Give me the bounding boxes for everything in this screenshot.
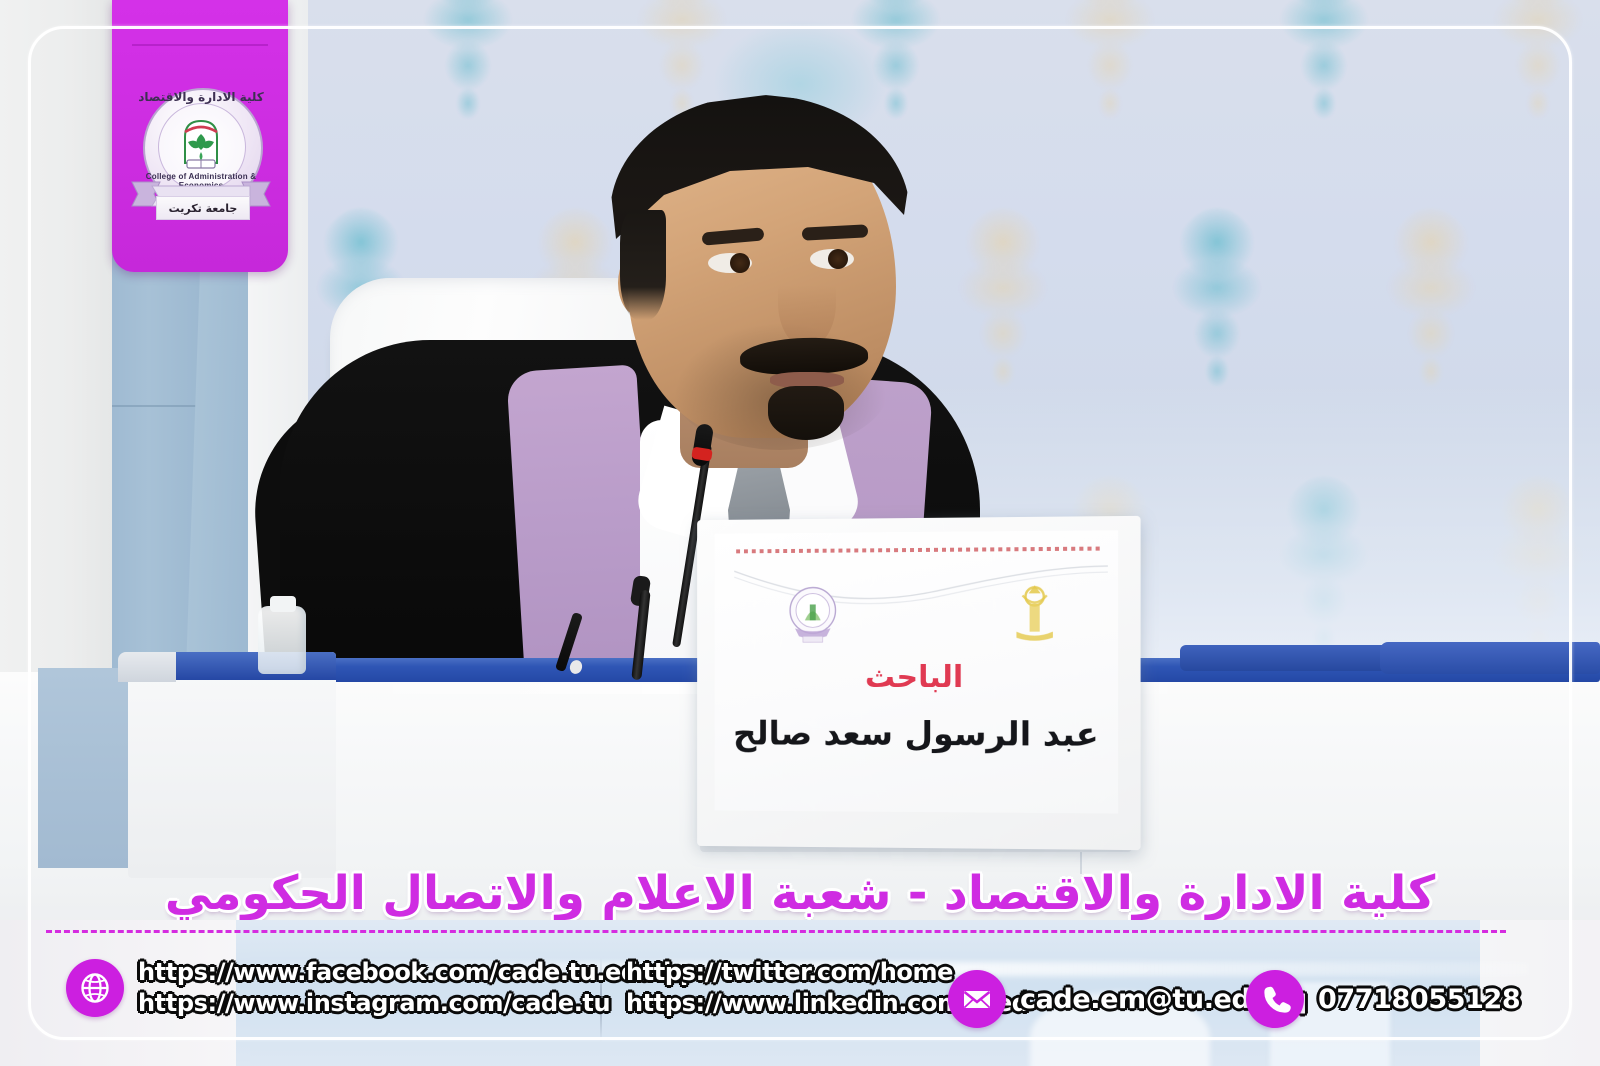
phone-list: 07718055128: [1318, 984, 1520, 1015]
iris-right: [828, 249, 848, 269]
footer-group-social[interactable]: https://www.facebook.com/cade.tu.edu.iq …: [66, 958, 688, 1017]
emblem-arabic-top-text: كلية الادارة والاقتصاد: [130, 90, 272, 104]
desk-left-block: [128, 652, 336, 878]
nameplate-card: الباحث عبد الرسول سعد صالح: [715, 530, 1118, 813]
badge-notch: [132, 44, 268, 46]
water-bottle-cap: [270, 596, 296, 612]
desk-side-panel: [38, 668, 134, 868]
nameplate-person-name: عبد الرسول سعد صالح: [715, 714, 1118, 754]
emblem-arch-graphic: [174, 118, 228, 174]
iris-left: [730, 253, 750, 273]
nameplate: الباحث عبد الرسول سعد صالح: [697, 516, 1140, 850]
goatee: [768, 386, 844, 440]
college-logo-badge[interactable]: كلية الادارة والاقتصاد College of Admini…: [112, 0, 288, 272]
sideburn: [620, 210, 666, 320]
nameplate-role-label: الباحث: [715, 660, 1118, 695]
footer-dashed-divider: [46, 930, 1506, 933]
nose: [778, 258, 836, 348]
facebook-url[interactable]: https://www.facebook.com/cade.tu.edu.iq: [138, 958, 688, 986]
college-emblem: كلية الادارة والاقتصاد College of Admini…: [130, 88, 272, 236]
desk-blue-trim-far-right: [1380, 642, 1600, 674]
social-links-list: https://www.facebook.com/cade.tu.edu.iq …: [138, 958, 688, 1017]
poster-canvas: الباحث عبد الرسول سعد صالح: [0, 0, 1600, 1066]
footer-group-phone[interactable]: 07718055128: [1246, 970, 1520, 1028]
nameplate-college-emblem: [785, 584, 840, 646]
left-white-wall: [0, 0, 118, 700]
phone-number[interactable]: 07718055128: [1318, 984, 1520, 1015]
desk-end-cap: [118, 652, 176, 682]
instagram-url[interactable]: https://www.instagram.com/cade.tu: [138, 989, 688, 1017]
envelope-icon[interactable]: [948, 970, 1006, 1028]
emblem-university-name: جامعة تكريت: [156, 196, 250, 220]
globe-icon[interactable]: [66, 959, 124, 1017]
nameplate-university-emblem: [1008, 581, 1061, 644]
phone-icon[interactable]: [1246, 970, 1304, 1028]
nameplate-dotted-rule: [736, 547, 1104, 554]
water-bottle: [258, 606, 306, 674]
